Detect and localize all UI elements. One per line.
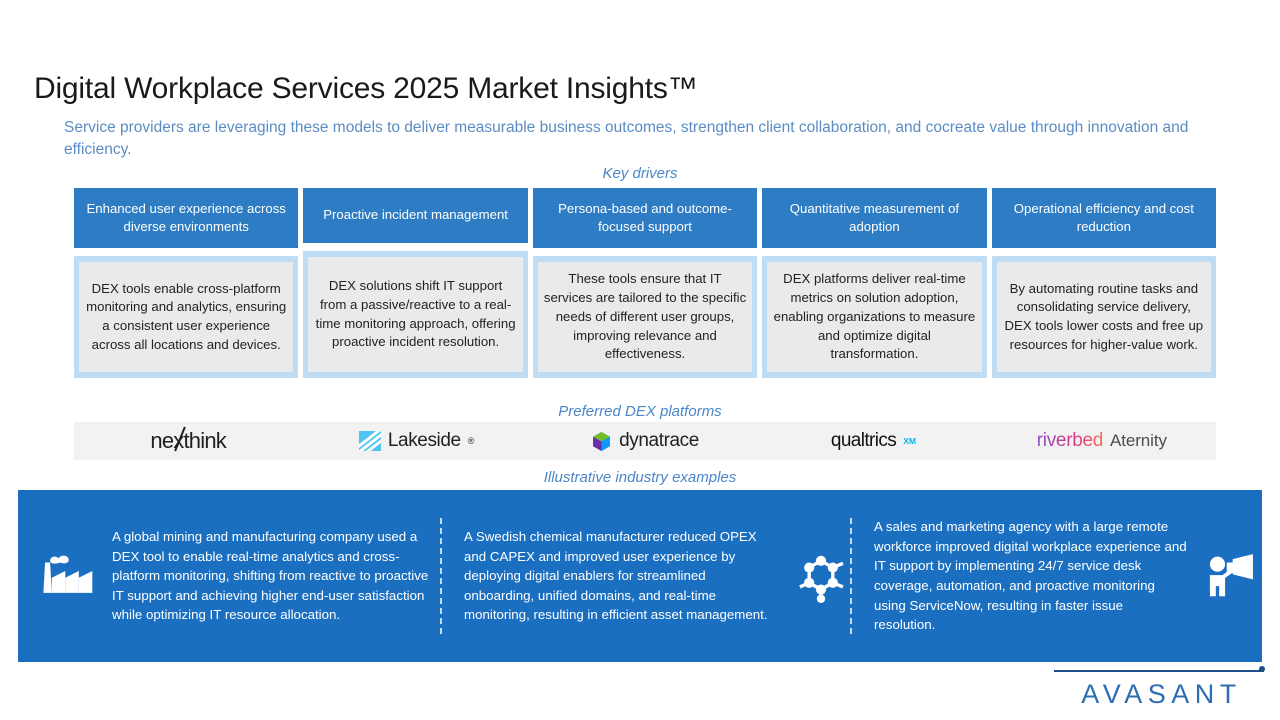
avasant-logo: AVASANT [1054, 670, 1264, 710]
key-driver-card: Quantitative measurement of adoption DEX… [762, 188, 986, 378]
nexthink-slash-icon [175, 427, 187, 452]
industry-example: A sales and marketing agency with a larg… [852, 490, 1262, 662]
dynatrace-hexagon-icon [591, 431, 612, 452]
industry-example-text: A Swedish chemical manufacturer reduced … [446, 527, 790, 625]
section-caption-key-drivers: Key drivers [60, 165, 1220, 182]
platform-logo-lakeside: Lakeside ® [302, 422, 530, 460]
key-driver-heading: Operational efficiency and cost reductio… [992, 188, 1216, 248]
key-driver-body: DEX platforms deliver real-time metrics … [767, 262, 981, 372]
industry-example: A global mining and manufacturing compan… [18, 490, 442, 662]
lakeside-wordmark: Lakeside [388, 430, 461, 452]
key-driver-card: Enhanced user experience across diverse … [74, 188, 298, 378]
section-caption-examples: Illustrative industry examples [60, 469, 1220, 486]
key-driver-card: Persona-based and outcome-focused suppor… [533, 188, 757, 378]
industry-examples-band: A global mining and manufacturing compan… [18, 490, 1262, 662]
aternity-wordmark: Aternity [1110, 431, 1167, 451]
key-driver-heading: Enhanced user experience across diverse … [74, 188, 298, 248]
key-driver-body: By automating routine tasks and consolid… [997, 262, 1211, 372]
industry-example-text: A sales and marketing agency with a larg… [856, 517, 1200, 634]
key-driver-body-frame: DEX tools enable cross-platform monitori… [74, 256, 298, 378]
platform-logo-riverbed: riverbed Aternity [988, 422, 1216, 460]
key-drivers-grid: Enhanced user experience across diverse … [74, 188, 1216, 378]
key-driver-body-frame: By automating routine tasks and consolid… [992, 256, 1216, 378]
key-driver-card: Operational efficiency and cost reductio… [992, 188, 1216, 378]
lakeside-registered-mark: ® [468, 436, 475, 446]
industry-example-text: A global mining and manufacturing compan… [98, 527, 442, 625]
platform-logo-qualtrics: qualtricsXM [759, 422, 987, 460]
key-driver-heading: Quantitative measurement of adoption [762, 188, 986, 248]
avasant-wordmark: AVASANT [1054, 679, 1264, 710]
riverbed-wordmark: riverbed [1037, 430, 1103, 452]
key-driver-body-frame: These tools ensure that IT services are … [533, 256, 757, 378]
key-driver-heading: Persona-based and outcome-focused suppor… [533, 188, 757, 248]
megaphone-person-icon [1200, 552, 1262, 600]
key-driver-body: DEX tools enable cross-platform monitori… [79, 262, 293, 372]
molecule-icon [790, 549, 852, 603]
key-driver-body: DEX solutions shift IT support from a pa… [308, 257, 522, 372]
key-driver-heading: Proactive incident management [303, 188, 527, 243]
preferred-platforms-strip: nexthink Lakeside ® dynatrace qualtricsX… [74, 422, 1216, 460]
section-caption-platforms: Preferred DEX platforms [60, 403, 1220, 420]
platform-logo-dynatrace: dynatrace [531, 422, 759, 460]
avasant-rule [1054, 670, 1264, 672]
industry-example: A Swedish chemical manufacturer reduced … [442, 490, 852, 662]
dynatrace-wordmark: dynatrace [619, 430, 699, 452]
key-driver-body-frame: DEX platforms deliver real-time metrics … [762, 256, 986, 378]
lakeside-logo-icon [359, 431, 381, 451]
key-driver-body-frame: DEX solutions shift IT support from a pa… [303, 251, 527, 378]
key-driver-card: Proactive incident management DEX soluti… [303, 188, 527, 378]
page-title: Digital Workplace Services 2025 Market I… [34, 72, 697, 106]
key-driver-body: These tools ensure that IT services are … [538, 262, 752, 372]
factory-icon [36, 552, 98, 600]
qualtrics-wordmark: qualtrics [831, 430, 896, 452]
qualtrics-xm-mark: XM [903, 436, 916, 446]
page-subtitle: Service providers are leveraging these m… [64, 117, 1224, 161]
platform-logo-nexthink: nexthink [74, 422, 302, 460]
nexthink-wordmark: nexthink [150, 428, 226, 454]
